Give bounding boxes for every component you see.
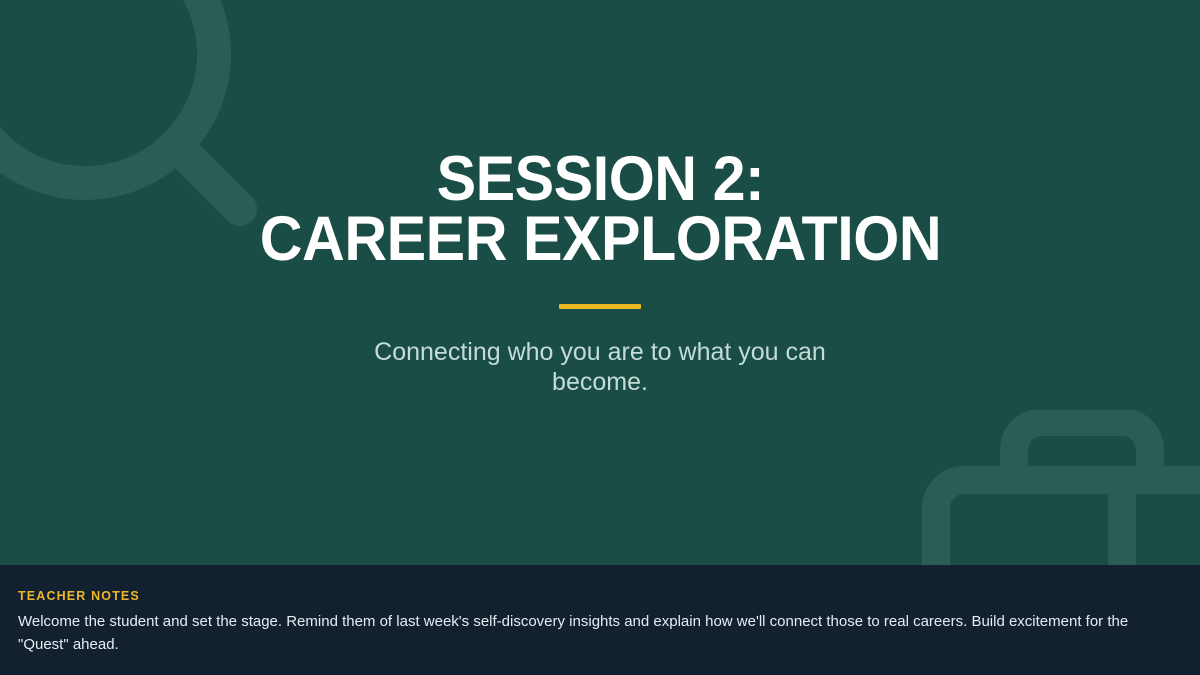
teacher-notes-body: Welcome the student and set the stage. R…	[18, 611, 1182, 657]
slide-canvas: SESSION 2: CAREER EXPLORATION Connecting…	[0, 0, 1200, 675]
page-subtitle: Connecting who you are to what you can b…	[350, 337, 850, 397]
page-title: SESSION 2: CAREER EXPLORATION	[259, 150, 940, 270]
title-block: SESSION 2: CAREER EXPLORATION Connecting…	[0, 0, 1200, 565]
teacher-notes-label: TEACHER NOTES	[18, 589, 1182, 603]
title-divider	[559, 304, 641, 309]
teacher-notes-panel: TEACHER NOTES Welcome the student and se…	[0, 565, 1200, 675]
